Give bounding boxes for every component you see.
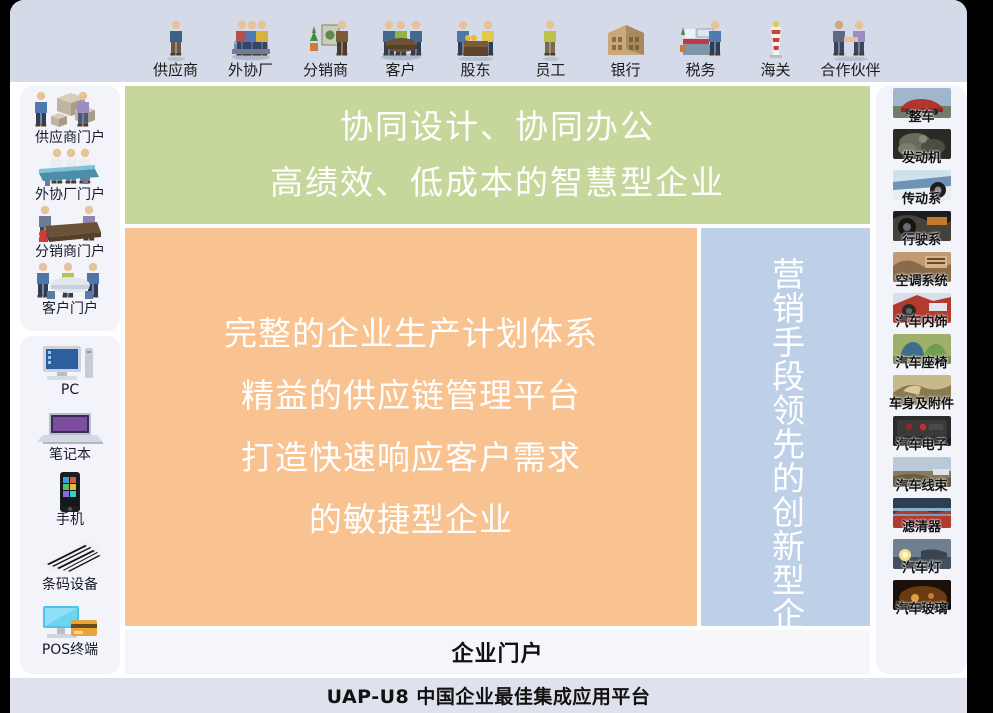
sidebar-device-label: 手机 (56, 512, 84, 529)
partner-item-label: 分销商 (303, 62, 348, 78)
automotive-item-label: 行驶系 (876, 233, 967, 248)
right-automotive-card: 整车发动机传动系行驶系空调系统汽车内饰汽车座椅车身及附件汽车电子汽车线束滤清器汽… (876, 86, 967, 674)
sidebar-device-label: 条码设备 (42, 577, 98, 594)
automotive-item-11[interactable]: 滤清器 (876, 498, 967, 539)
automotive-item-4[interactable]: 行驶系 (876, 211, 967, 252)
partner-item-label: 银行 (610, 62, 640, 78)
partner-item-label: 客户 (385, 62, 415, 78)
partner-item-6[interactable]: 员工 (513, 13, 588, 82)
sidebar-device-label: POS终端 (42, 642, 98, 659)
automotive-item-9[interactable]: 汽车电子 (876, 416, 967, 457)
partner-item-7[interactable]: 银行 (588, 13, 663, 82)
automotive-item-7[interactable]: 汽车座椅 (876, 334, 967, 375)
green-line-2: 高绩效、低成本的智慧型企业 (270, 155, 725, 211)
automotive-item-label: 滤清器 (876, 520, 967, 535)
left-portals-card: 供应商门户外协厂门户分销商门户客户门户 (20, 86, 120, 331)
sidebar-device-3[interactable]: 手机 (20, 472, 120, 529)
automotive-item-8[interactable]: 车身及附件 (876, 375, 967, 416)
orange-line-3: 打造快速响应客户需求 (241, 427, 581, 489)
partner-item-label: 员工 (535, 62, 565, 78)
partner-item-9[interactable]: 海关 (738, 13, 813, 82)
sidebar-device-label: 笔记本 (49, 447, 91, 464)
partner-item-label: 税务 (685, 62, 715, 78)
partner-item-label: 供应商 (153, 62, 198, 78)
mobile-phone-icon (53, 472, 87, 512)
green-vision-panel: 协同设计、协同办公 高绩效、低成本的智慧型企业 (125, 86, 870, 224)
supplier-person-icon (159, 13, 193, 61)
sidebar-device-label: PC (61, 382, 79, 399)
partner-item-2[interactable]: 外协厂 (213, 13, 288, 82)
sidebar-device-5[interactable]: POS终端 (20, 602, 120, 659)
automotive-item-label: 汽车灯 (876, 561, 967, 576)
distributor-icon (302, 13, 350, 61)
left-devices-card: PC笔记本手机条码设备POS终端 (20, 336, 120, 674)
customer-meeting-icon (377, 13, 425, 61)
sidebar-portal-1[interactable]: 供应商门户 (20, 90, 120, 147)
automotive-item-label: 汽车内饰 (876, 315, 967, 330)
bank-building-icon (604, 13, 648, 61)
orange-line-2: 精益的供应链管理平台 (241, 365, 581, 427)
sidebar-portal-4[interactable]: 客户门户 (20, 261, 120, 318)
partners-handshake-icon (825, 13, 877, 61)
sidebar-device-2[interactable]: 笔记本 (20, 407, 120, 464)
automotive-item-10[interactable]: 汽车线束 (876, 457, 967, 498)
automotive-item-label: 汽车座椅 (876, 356, 967, 371)
green-line-1: 协同设计、协同办公 (340, 99, 655, 155)
shareholder-icon (452, 13, 500, 61)
outsourcing-portal-icon (31, 147, 109, 187)
automotive-item-label: 发动机 (876, 151, 967, 166)
partner-item-5[interactable]: 股东 (438, 13, 513, 82)
supplier-portal-icon (31, 90, 109, 130)
automotive-item-label: 汽车电子 (876, 438, 967, 453)
automotive-item-5[interactable]: 空调系统 (876, 252, 967, 293)
orange-capability-panel: 完整的企业生产计划体系 精益的供应链管理平台 打造快速响应客户需求 的敏捷型企业 (125, 228, 697, 626)
automotive-item-label: 汽车线束 (876, 479, 967, 494)
partner-item-8[interactable]: 税务 (663, 13, 738, 82)
automotive-item-label: 整车 (876, 110, 967, 125)
automotive-item-12[interactable]: 汽车灯 (876, 539, 967, 580)
desktop-pc-icon (39, 342, 101, 382)
distributor-portal-icon (31, 204, 109, 244)
barcode-scanner-icon (35, 537, 105, 577)
automotive-item-label: 汽车玻璃 (876, 602, 967, 617)
automotive-item-label: 传动系 (876, 192, 967, 207)
partner-item-10[interactable]: 合作伙伴 (813, 13, 888, 82)
partner-item-label: 股东 (460, 62, 490, 78)
pos-terminal-icon (37, 602, 103, 642)
footer-bar: UAP-U8 中国企业最佳集成应用平台 (10, 678, 967, 713)
blue-vertical-text: 营销手段领先的创新型企业 (760, 257, 812, 597)
sidebar-device-4[interactable]: 条码设备 (20, 537, 120, 594)
automotive-item-2[interactable]: 发动机 (876, 129, 967, 170)
orange-line-1: 完整的企业生产计划体系 (224, 303, 598, 365)
footer-label: UAP-U8 中国企业最佳集成应用平台 (327, 682, 651, 709)
sidebar-portal-2[interactable]: 外协厂门户 (20, 147, 120, 204)
outsourcing-factory-icon (228, 13, 274, 61)
sidebar-portal-3[interactable]: 分销商门户 (20, 204, 120, 261)
automotive-item-13[interactable]: 汽车玻璃 (876, 580, 967, 621)
automotive-item-label: 空调系统 (876, 274, 967, 289)
tax-office-icon (677, 13, 725, 61)
customs-lighthouse-icon (760, 13, 792, 61)
laptop-icon (37, 407, 103, 447)
partner-item-4[interactable]: 客户 (363, 13, 438, 82)
partner-item-label: 合作伙伴 (820, 62, 880, 78)
sidebar-portal-label: 分销商门户 (35, 244, 105, 261)
enterprise-portal-bar[interactable]: 企业门户 (125, 630, 870, 674)
sidebar-portal-label: 客户门户 (42, 301, 98, 318)
partner-item-label: 外协厂 (228, 62, 273, 78)
screenshot-root: 供应商外协厂分销商客户股东员工银行税务海关合作伙伴 供应商门户外协厂门户分销商门… (0, 0, 993, 713)
sidebar-portal-label: 外协厂门户 (35, 187, 105, 204)
employee-icon (538, 13, 564, 61)
customer-portal-icon (31, 261, 109, 301)
enterprise-portal-label: 企业门户 (451, 636, 543, 668)
sidebar-device-1[interactable]: PC (20, 342, 120, 399)
partner-item-label: 海关 (760, 62, 790, 78)
blue-marketing-panel: 营销手段领先的创新型企业 (701, 228, 870, 626)
automotive-item-6[interactable]: 汽车内饰 (876, 293, 967, 334)
automotive-item-label: 车身及附件 (876, 397, 967, 412)
automotive-item-1[interactable]: 整车 (876, 88, 967, 129)
partner-bar: 供应商外协厂分销商客户股东员工银行税务海关合作伙伴 (10, 0, 967, 82)
partner-item-1[interactable]: 供应商 (138, 13, 213, 82)
sidebar-portal-label: 供应商门户 (35, 130, 105, 147)
partner-item-3[interactable]: 分销商 (288, 13, 363, 82)
automotive-item-3[interactable]: 传动系 (876, 170, 967, 211)
orange-line-4: 的敏捷型企业 (309, 489, 513, 551)
